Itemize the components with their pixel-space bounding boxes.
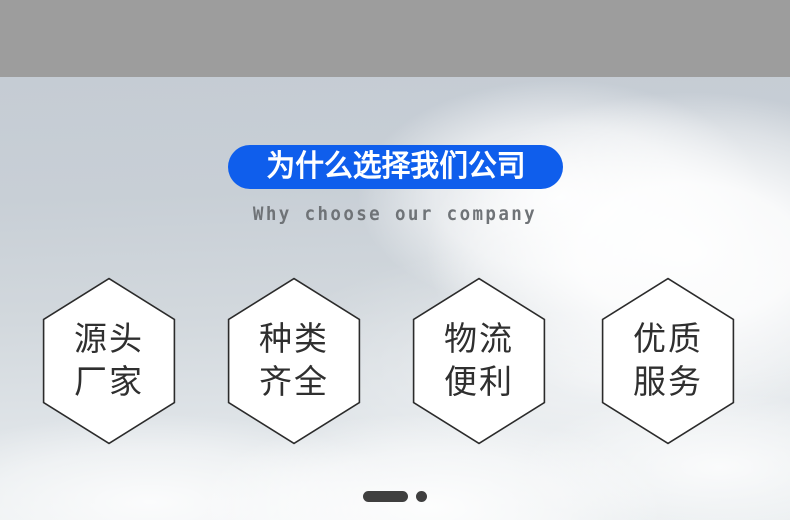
feature-hexagon-1[interactable]: 源头 厂家 [42, 277, 176, 445]
feature-hexagon-1-line1: 源头 [74, 318, 144, 361]
feature-hexagon-4-line1: 优质 [633, 318, 703, 361]
page-title: 为什么选择我们公司 [266, 152, 525, 182]
feature-hexagon-1-label: 源头 厂家 [42, 277, 176, 445]
pagination-dot-1[interactable] [363, 491, 408, 502]
feature-hexagon-3-line2: 便利 [444, 361, 514, 404]
feature-hexagon-2-label: 种类 齐全 [227, 277, 361, 445]
feature-hexagon-2-line2: 齐全 [259, 361, 329, 404]
top-grey-band [0, 0, 790, 77]
feature-hexagon-1-line2: 厂家 [74, 361, 144, 404]
carousel-pagination[interactable] [0, 491, 790, 502]
feature-hexagon-3[interactable]: 物流 便利 [412, 277, 546, 445]
promo-banner-slide: 为什么选择我们公司 Why choose our company 源头 厂家 种… [0, 0, 790, 520]
section-title-pill: 为什么选择我们公司 [228, 145, 563, 189]
feature-hexagon-3-label: 物流 便利 [412, 277, 546, 445]
feature-hexagon-4[interactable]: 优质 服务 [601, 277, 735, 445]
feature-hexagon-2-line1: 种类 [259, 318, 329, 361]
feature-hexagon-row: 源头 厂家 种类 齐全 物流 便利 [0, 277, 790, 447]
feature-hexagon-4-line2: 服务 [633, 361, 703, 404]
feature-hexagon-4-label: 优质 服务 [601, 277, 735, 445]
feature-hexagon-2[interactable]: 种类 齐全 [227, 277, 361, 445]
section-subtitle: Why choose our company [32, 203, 759, 225]
pagination-dot-2[interactable] [416, 491, 427, 502]
feature-hexagon-3-line1: 物流 [444, 318, 514, 361]
